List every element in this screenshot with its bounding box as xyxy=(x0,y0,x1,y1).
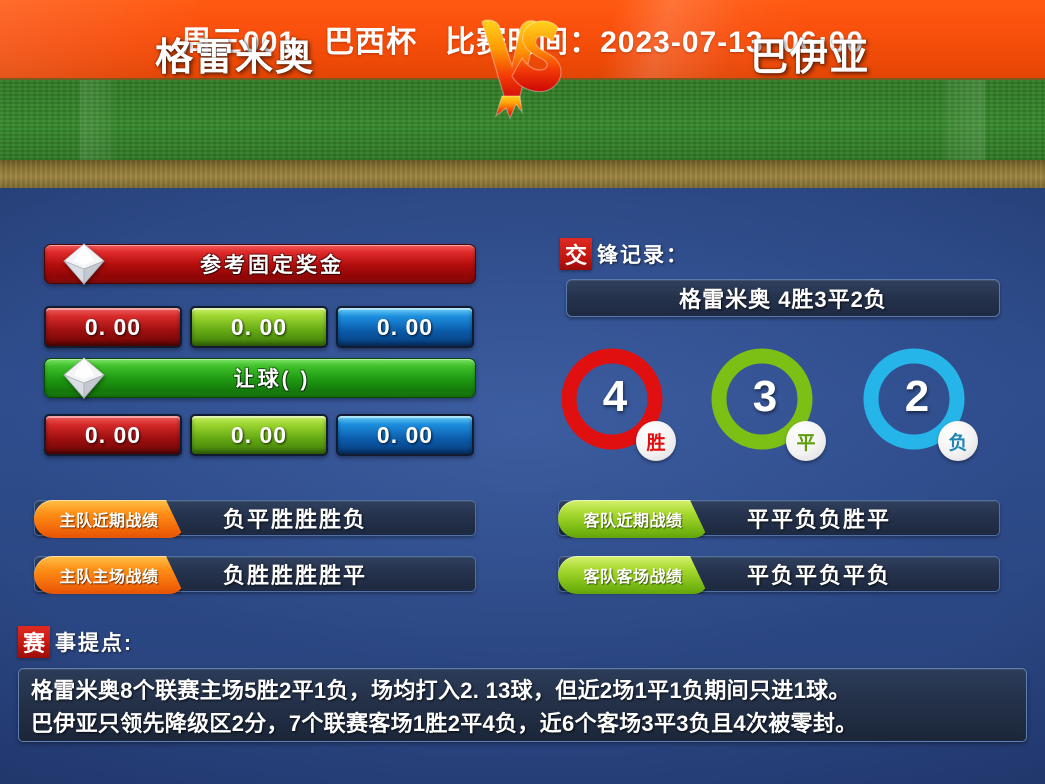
analysis-line: 巴伊亚只领先降级区2分，7个联赛客场1胜2平4负，近6个客场3平3负且4次被零封… xyxy=(31,707,1014,740)
away-venue-form-tab[interactable]: 客队客场战绩 xyxy=(558,556,708,594)
analysis-line: 格雷米奥8个联赛主场5胜2平1负，场均打入2. 13球，但近2场1平1负期间只进… xyxy=(31,674,1014,707)
h2h-draw-badge: 平 xyxy=(786,421,826,461)
vs-icon xyxy=(462,4,582,122)
handicap-odds-home-box[interactable]: 0. 00 xyxy=(44,414,182,456)
handicap-odds-draw-box[interactable]: 0. 00 xyxy=(190,414,328,456)
analysis-header: 赛 事提点: xyxy=(18,626,133,658)
pitch-dirt-strip xyxy=(0,160,1045,188)
h2h-header-label: 锋记录： xyxy=(597,239,689,269)
handicap-title-bar: 让球( ) xyxy=(44,358,476,398)
fixed-odds-away-box[interactable]: 0. 00 xyxy=(336,306,474,348)
h2h-header: 交 锋记录： xyxy=(560,238,689,270)
diamond-icon xyxy=(61,241,107,287)
h2h-ring-draw: 3 平 xyxy=(706,343,818,455)
analysis-text-box: 格雷米奥8个联赛主场5胜2平1负，场均打入2. 13球，但近2场1平1负期间只进… xyxy=(18,668,1027,742)
home-team-name: 格雷米奥 xyxy=(0,26,470,81)
fixed-bonus-title-bar: 参考固定奖金 xyxy=(44,244,476,284)
h2h-lose-badge: 负 xyxy=(938,421,978,461)
diamond-icon xyxy=(61,355,107,401)
away-recent-form-tab[interactable]: 客队近期战绩 xyxy=(558,500,708,538)
fixed-odds-draw-box[interactable]: 0. 00 xyxy=(190,306,328,348)
home-recent-form-tab[interactable]: 主队近期战绩 xyxy=(34,500,184,538)
handicap-odds-away-box[interactable]: 0. 00 xyxy=(336,414,474,456)
h2h-ring-win: 4 胜 xyxy=(556,343,668,455)
handicap-title-label: 让球( ) xyxy=(210,363,311,393)
fixed-odds-home-box[interactable]: 0. 00 xyxy=(44,306,182,348)
h2h-ring-lose: 2 负 xyxy=(858,343,970,455)
home-venue-form-tab[interactable]: 主队主场战绩 xyxy=(34,556,184,594)
h2h-summary-text: 格雷米奥 4胜3平2负 xyxy=(679,282,887,314)
fixed-bonus-title-label: 参考固定奖金 xyxy=(176,249,344,279)
analysis-chip: 赛 xyxy=(18,626,50,658)
h2h-chip: 交 xyxy=(560,238,592,270)
away-team-name: 巴伊亚 xyxy=(575,26,1045,81)
analysis-header-label: 事提点: xyxy=(55,627,133,657)
h2h-win-badge: 胜 xyxy=(636,421,676,461)
h2h-summary-bar: 格雷米奥 4胜3平2负 xyxy=(566,279,1000,317)
